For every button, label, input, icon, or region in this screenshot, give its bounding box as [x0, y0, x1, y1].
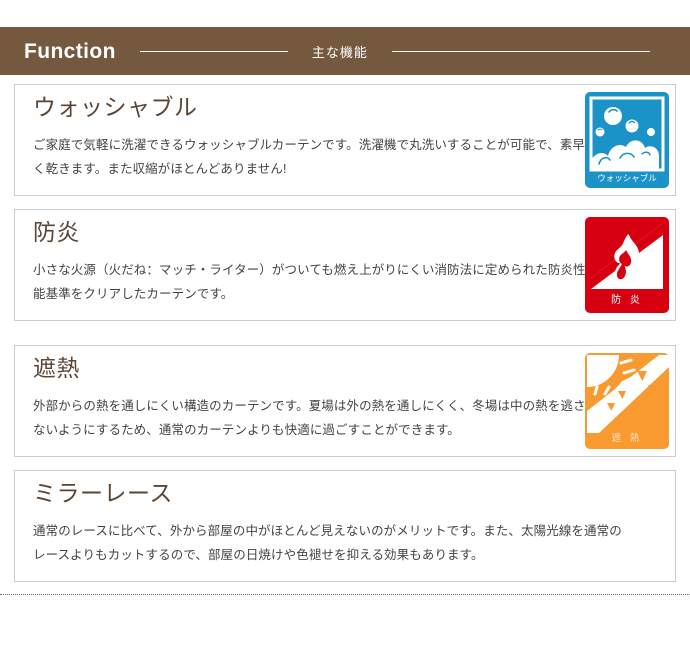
feature-section-page: Function 主な機能 ウォッシャブル ご家庭で気軽に洗濯できるウォッシャブ…	[0, 0, 690, 645]
section-header-japanese-title: 主な機能	[312, 42, 368, 61]
section-header-banner: Function 主な機能	[0, 27, 690, 75]
feature-description: 小さな火源（火だね：マッチ・ライター）がついても燃え上がりにくい消防法に定められ…	[33, 258, 593, 307]
icon-label: ウォッシャブル	[585, 174, 669, 183]
icon-label: 遮 熱	[585, 434, 669, 444]
section-header-english-title: Function	[24, 41, 116, 62]
feature-card-heat-shield: 遮熱 外部からの熱を通しにくい構造のカーテンです。夏場は外の熱を通しにくく、冬場…	[14, 345, 676, 457]
heat-shield-icon: 遮 熱	[585, 353, 669, 449]
header-rule-left	[140, 51, 288, 52]
feature-title: 防炎	[33, 218, 80, 247]
flame-retardant-icon: 防 炎	[585, 217, 669, 313]
feature-title: 遮熱	[33, 354, 80, 383]
feature-card-mirror-lace: ミラーレース 通常のレースに比べて、外から部屋の中がほとんど見えないのがメリット…	[14, 470, 676, 582]
feature-card-flame-retardant: 防炎 小さな火源（火だね：マッチ・ライター）がついても燃え上がりにくい消防法に定…	[14, 209, 676, 321]
header-rule-right	[392, 51, 650, 52]
washable-bubbles-icon: ウォッシャブル	[585, 92, 669, 188]
icon-label: 防 炎	[585, 296, 669, 306]
section-divider	[0, 594, 690, 595]
feature-title: ミラーレース	[33, 479, 173, 508]
feature-description: ご家庭で気軽に洗濯できるウォッシャブルカーテンです。洗濯機で丸洗いすることが可能…	[33, 133, 593, 182]
feature-title: ウォッシャブル	[33, 93, 198, 122]
feature-description: 通常のレースに比べて、外から部屋の中がほとんど見えないのがメリットです。また、太…	[33, 519, 633, 568]
feature-card-washable: ウォッシャブル ご家庭で気軽に洗濯できるウォッシャブルカーテンです。洗濯機で丸洗…	[14, 84, 676, 196]
feature-description: 外部からの熱を通しにくい構造のカーテンです。夏場は外の熱を通しにくく、冬場は中の…	[33, 394, 593, 443]
